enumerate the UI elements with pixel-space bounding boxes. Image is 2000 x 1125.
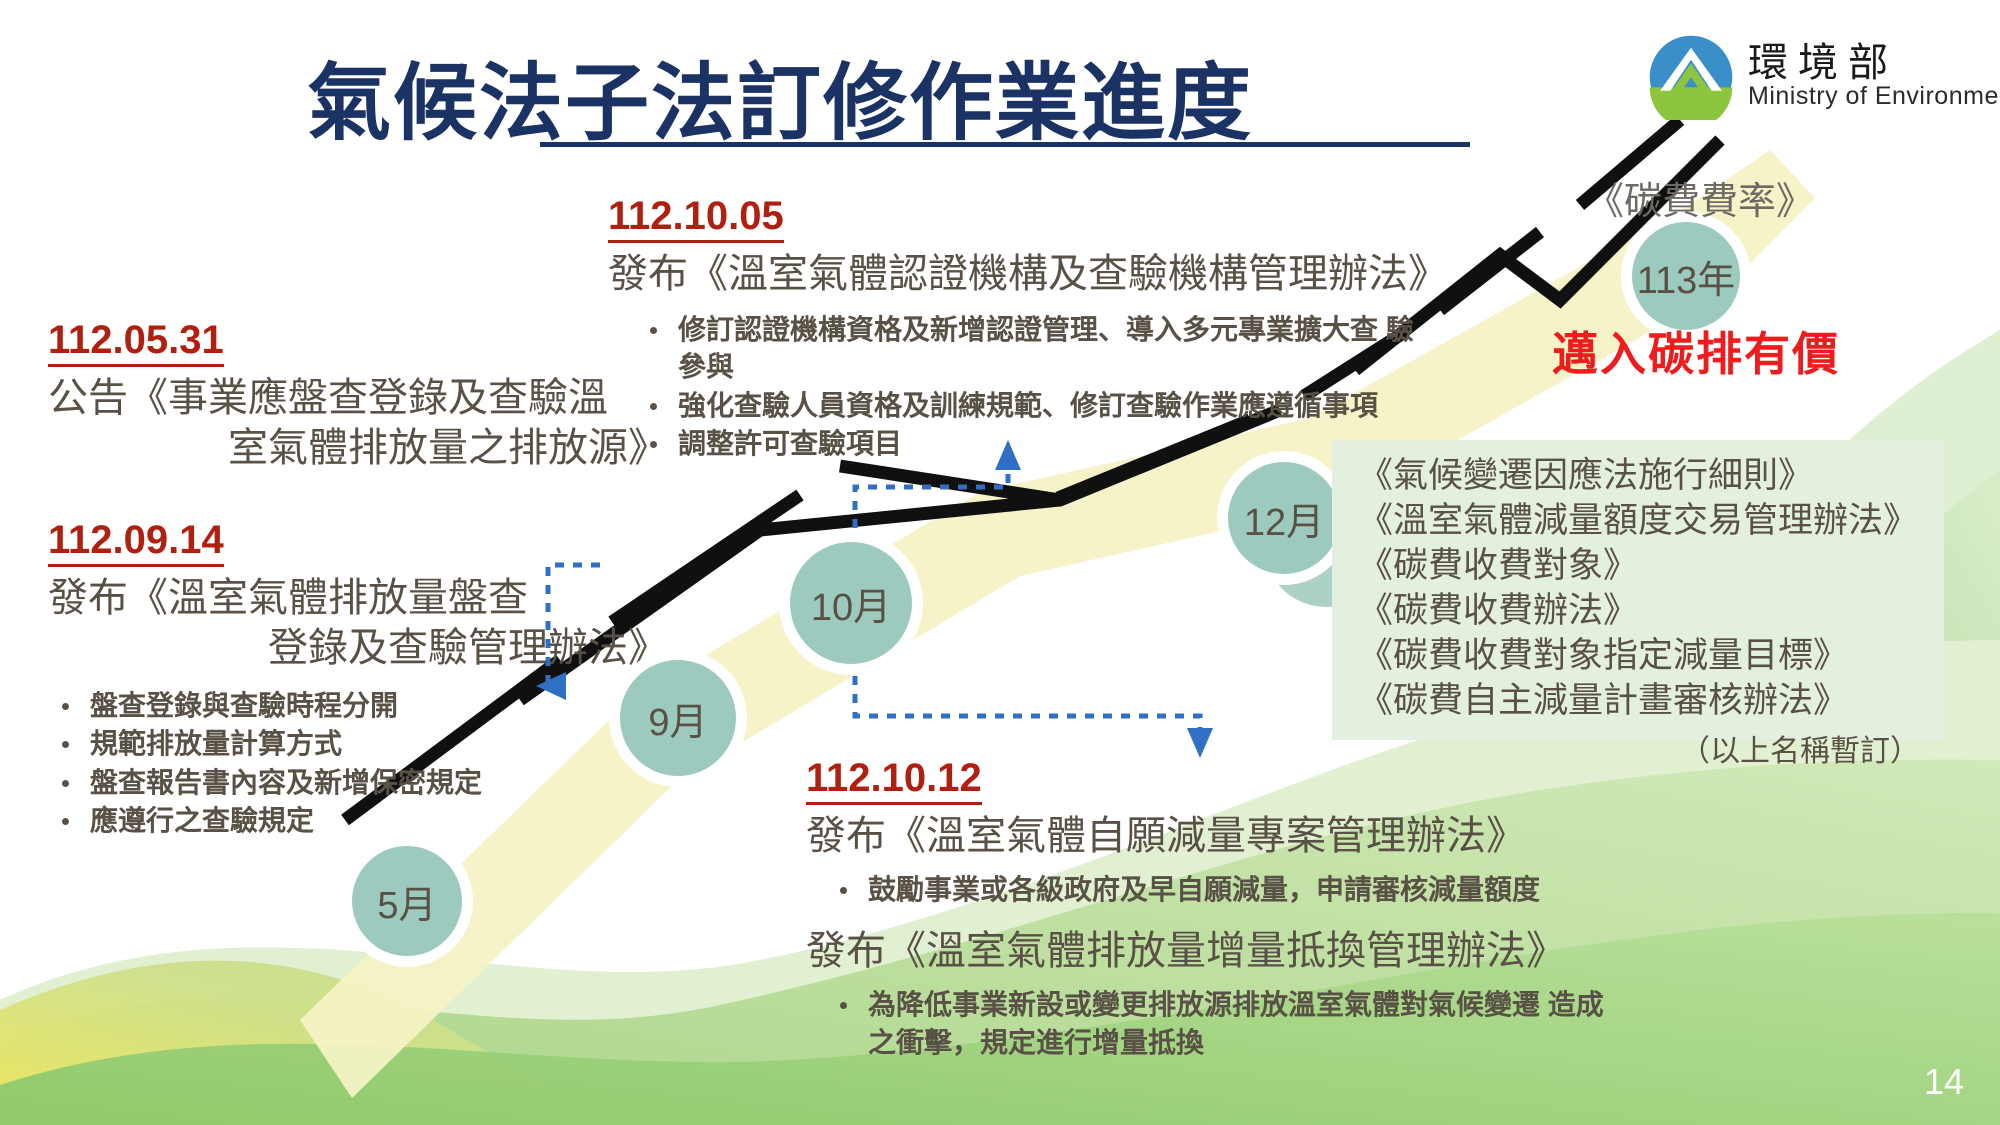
entry-headline: 公告《事業應盤查登錄及查驗溫: [48, 373, 668, 423]
entry-112-09-14: 112.09.14 發布《溫室氣體排放量盤查 登錄及查驗管理辦法》 盤查登錄與查…: [48, 518, 668, 841]
entry-bullet-list-secondary: 為降低事業新設或變更排放源排放溫室氣體對氣候變遷 造成之衝擊，規定進行增量抵換: [826, 986, 1626, 1061]
entry-headline: 發布《溫室氣體自願減量專案管理辦法》: [806, 811, 1626, 861]
entry-112-10-05: 112.10.05 發布《溫室氣體認證機構及查驗機構管理辦法》 修訂認證機構資格…: [608, 194, 1428, 464]
entry-date: 112.10.05: [608, 194, 784, 243]
milestone-node-label: 5月: [377, 874, 436, 929]
entry-date: 112.09.14: [48, 518, 224, 567]
entry-date: 112.05.31: [48, 318, 224, 367]
carbon-fee-rate-label: 《碳費費率》: [1586, 170, 1814, 225]
slide-root: 氣候法子法訂修作業進度 環境部 Ministry of Environment …: [0, 0, 2000, 1125]
list-item: 盤查報告書內容及新增保密規定: [48, 764, 668, 802]
milestone-node-label: 12月: [1244, 491, 1324, 546]
page-number: 14: [1924, 1061, 1964, 1103]
entry-headline-cont: 登錄及查驗管理辦法》: [48, 623, 668, 673]
entry-bullet-list: 盤查登錄與查驗時程分開 規範排放量計算方式 盤查報告書內容及新增保密規定 應遵行…: [48, 687, 668, 840]
list-item: 調整許可查驗項目: [636, 425, 1428, 463]
milestone-node-12[interactable]: 12月: [1228, 462, 1340, 574]
list-item: 盤查登錄與查驗時程分開: [48, 687, 668, 725]
entry-headline: 發布《溫室氣體排放量盤查: [48, 573, 668, 623]
page-title: 氣候法子法訂修作業進度: [0, 36, 1560, 157]
list-item: 《碳費收費對象指定減量目標》: [1332, 634, 1944, 679]
milestone-node-10[interactable]: 10月: [790, 542, 912, 664]
list-item: 《氣候變遷因應法施行細則》: [1332, 454, 1944, 499]
milestone-node-113[interactable]: 113年: [1632, 222, 1740, 330]
milestone-node-label: 10月: [811, 576, 891, 631]
milestone-node-9[interactable]: 9月: [620, 660, 736, 776]
entry-bullet-list: 修訂認證機構資格及新增認證管理、導入多元專業擴大查 驗參與 強化查驗人員資格及訓…: [636, 311, 1428, 463]
upcoming-regulations-box: 《氣候變遷因應法施行細則》 《溫室氣體減量額度交易管理辦法》 《碳費收費對象》 …: [1332, 440, 1944, 740]
entry-date: 112.10.12: [806, 756, 982, 805]
milestone-node-5[interactable]: 5月: [352, 846, 462, 956]
entry-headline: 發布《溫室氣體認證機構及查驗機構管理辦法》: [608, 249, 1428, 299]
logo-name-zh: 環境部: [1748, 30, 1898, 88]
entry-112-10-12: 112.10.12 發布《溫室氣體自願減量專案管理辦法》 鼓勵事業或各級政府及早…: [806, 756, 1626, 1062]
title-underline: [540, 142, 1470, 147]
entry-headline-secondary: 發布《溫室氣體排放量增量抵換管理辦法》: [806, 926, 1626, 976]
list-item: 應遵行之查驗規定: [48, 802, 668, 840]
carbon-pricing-slogan: 邁入碳排有價: [1552, 318, 1840, 384]
list-item: 強化查驗人員資格及訓練規範、修訂查驗作業應遵循事項: [636, 387, 1428, 425]
ministry-of-environment-mountain-logo: [1648, 34, 1734, 120]
upcoming-regulations-note: （以上名稱暫訂）: [1332, 726, 1944, 770]
logo-name-en: Ministry of Environment: [1748, 82, 2000, 111]
ministry-logo: 環境部 Ministry of Environment: [1648, 30, 1978, 126]
milestone-node-label: 113年: [1637, 249, 1736, 304]
list-item: 《碳費收費辦法》: [1332, 589, 1944, 634]
list-item: 《碳費自主減量計畫審核辦法》: [1332, 679, 1944, 724]
list-item: 鼓勵事業或各級政府及早自願減量，申請審核減量額度: [826, 871, 1626, 909]
entry-headline-cont: 室氣體排放量之排放源》: [48, 423, 668, 473]
list-item: 修訂認證機構資格及新增認證管理、導入多元專業擴大查 驗參與: [636, 311, 1428, 386]
entry-112-05-31: 112.05.31 公告《事業應盤查登錄及查驗溫 室氣體排放量之排放源》: [48, 318, 668, 473]
list-item: 為降低事業新設或變更排放源排放溫室氣體對氣候變遷 造成之衝擊，規定進行增量抵換: [826, 986, 1626, 1061]
entry-bullet-list: 鼓勵事業或各級政府及早自願減量，申請審核減量額度: [826, 871, 1626, 909]
list-item: 《碳費收費對象》: [1332, 544, 1944, 589]
list-item: 《溫室氣體減量額度交易管理辦法》: [1332, 499, 1944, 544]
milestone-node-label: 9月: [648, 691, 707, 746]
list-item: 規範排放量計算方式: [48, 725, 668, 763]
